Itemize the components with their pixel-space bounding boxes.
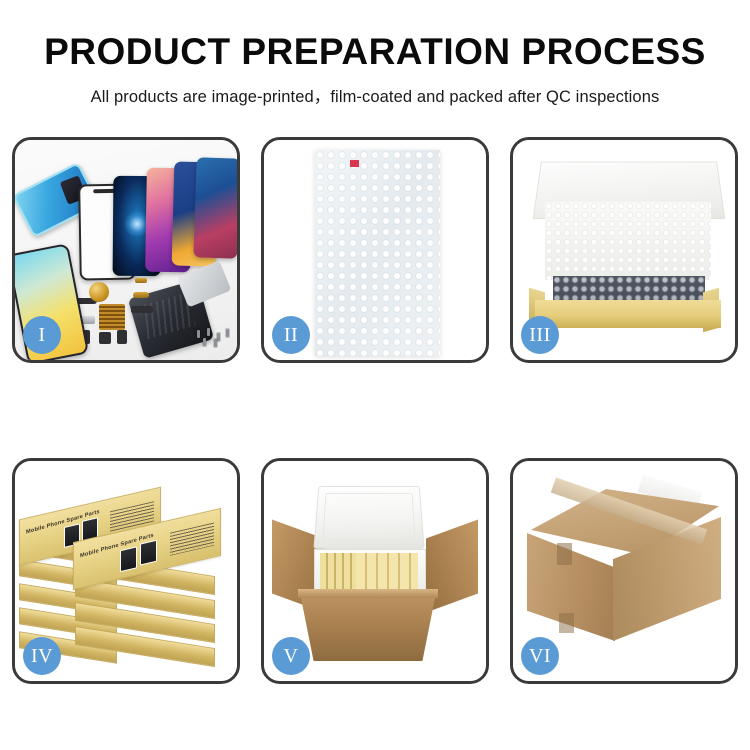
foam-lid	[313, 486, 424, 549]
header: PRODUCT PREPARATION PROCESS All products…	[0, 0, 750, 107]
steps-grid: I II	[12, 137, 738, 684]
step-badge-5: V	[272, 637, 310, 675]
step-badge-3: III	[521, 316, 559, 354]
red-label-tag	[350, 160, 359, 167]
step-badge-2: II	[272, 316, 310, 354]
step-card-5[interactable]: V	[261, 458, 489, 684]
page-title: PRODUCT PREPARATION PROCESS	[0, 0, 750, 72]
carton-rim	[298, 589, 438, 598]
step-card-3[interactable]: III	[510, 137, 738, 363]
step-badge-6: VI	[521, 637, 559, 675]
spare-part-gold-connector	[133, 292, 149, 298]
step-badge-4: IV	[23, 637, 61, 675]
screws-group	[195, 328, 231, 346]
vibrator-motor-part	[89, 282, 109, 302]
step-card-2[interactable]: II	[261, 137, 489, 363]
carton-seam-upper	[557, 543, 572, 565]
spare-part-button-flex	[135, 278, 147, 283]
carton-seam-lower	[559, 613, 574, 633]
bubble-wrap-bag	[315, 150, 440, 356]
spare-part-ic-grid	[99, 304, 125, 330]
carton-front-panel	[300, 593, 436, 661]
page-subtitle: All products are image-printed，film-coat…	[0, 72, 750, 107]
spare-part-camera-module	[117, 330, 127, 344]
step-badge-1: I	[23, 316, 61, 354]
step-card-4[interactable]: Mobile Phone Spare Parts Mobile Phone Sp…	[12, 458, 240, 684]
white-foam-sheet	[545, 202, 711, 280]
product-preparation-infographic: PRODUCT PREPARATION PROCESS All products…	[0, 0, 750, 750]
spare-part-speaker	[99, 332, 111, 344]
packed-gold-boxes	[320, 553, 418, 591]
spare-part-black-strip	[131, 306, 153, 313]
step-card-6[interactable]: VI	[510, 458, 738, 684]
phone-screen-teal	[193, 157, 237, 258]
gold-box-front-panel	[535, 300, 721, 328]
step-card-1[interactable]: I	[12, 137, 240, 363]
